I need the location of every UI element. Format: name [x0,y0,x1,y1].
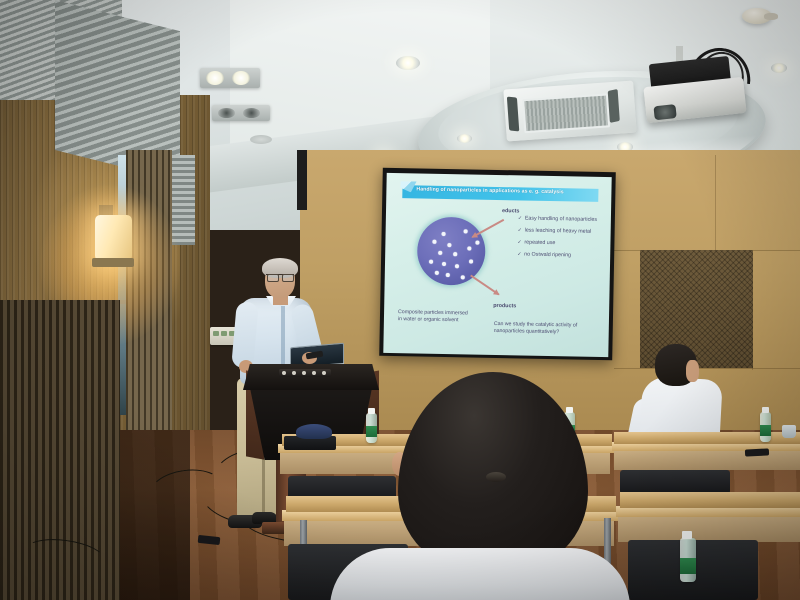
downlight-icon [457,134,472,143]
water-bottle[interactable] [760,412,771,442]
projector-lens [653,104,676,120]
seated-man-face [686,360,699,382]
table-modesty-panel [614,450,800,470]
downlight-icon [396,56,420,70]
ceiling-vent-small [250,135,272,144]
ac-vent-left [507,96,519,131]
recessed-double-spotlight-icon [212,105,270,121]
water-bottle[interactable] [366,413,377,443]
nanoparticle-sphere [417,216,486,285]
paper-cup[interactable] [782,425,796,438]
ac-cassette-unit [503,81,636,142]
list-item: no Ostwald ripening [517,252,605,261]
podium-control-panel[interactable] [279,369,331,377]
presenter-shirt-placket [281,306,285,366]
list-item: repeated use [517,240,605,249]
presenter-glasses-lens-left [267,274,279,282]
table-modesty-panel [618,516,800,542]
phone-on-table[interactable] [745,448,769,456]
water-bottle[interactable] [680,538,696,582]
presenter-glasses-lens-right [282,274,294,282]
smoke-detector-nub [764,13,778,20]
acoustic-mesh-panel [640,250,753,368]
slide-bullet-list: Easy handling of nanoparticles less leac… [517,215,606,265]
slide-caption-left: Composite particles immersed in water or… [398,309,468,325]
table-surface [620,492,800,508]
products-label: products [493,303,516,309]
slide-question: Can we study the catalytic activity of n… [494,321,594,337]
woman-shoulders [330,548,630,600]
ac-vent-right [608,89,620,123]
ac-grille [522,93,610,133]
sconce-arm [92,258,134,267]
lecture-hall-photo: Handling of nanoparticles in application… [0,0,800,600]
hair-tie [486,472,506,482]
table-surface [614,432,800,444]
list-item: less leaching of heavy metal [518,228,606,237]
chair-back[interactable] [620,470,730,494]
downlight-icon [771,63,787,73]
blue-bag [296,424,332,439]
wall-sconce-lamp [95,215,132,261]
educts-label: educts [502,208,519,214]
products-arrow-icon [470,275,499,295]
recessed-double-spotlight-icon [200,68,260,88]
table-leg [604,518,611,564]
screen-left-shadow [297,150,307,210]
wall-seam [614,368,800,369]
list-item: Easy handling of nanoparticles [518,215,606,224]
wall-seam [715,155,716,255]
podium-top [243,364,379,390]
projection-screen: Handling of nanoparticles in application… [383,173,611,357]
